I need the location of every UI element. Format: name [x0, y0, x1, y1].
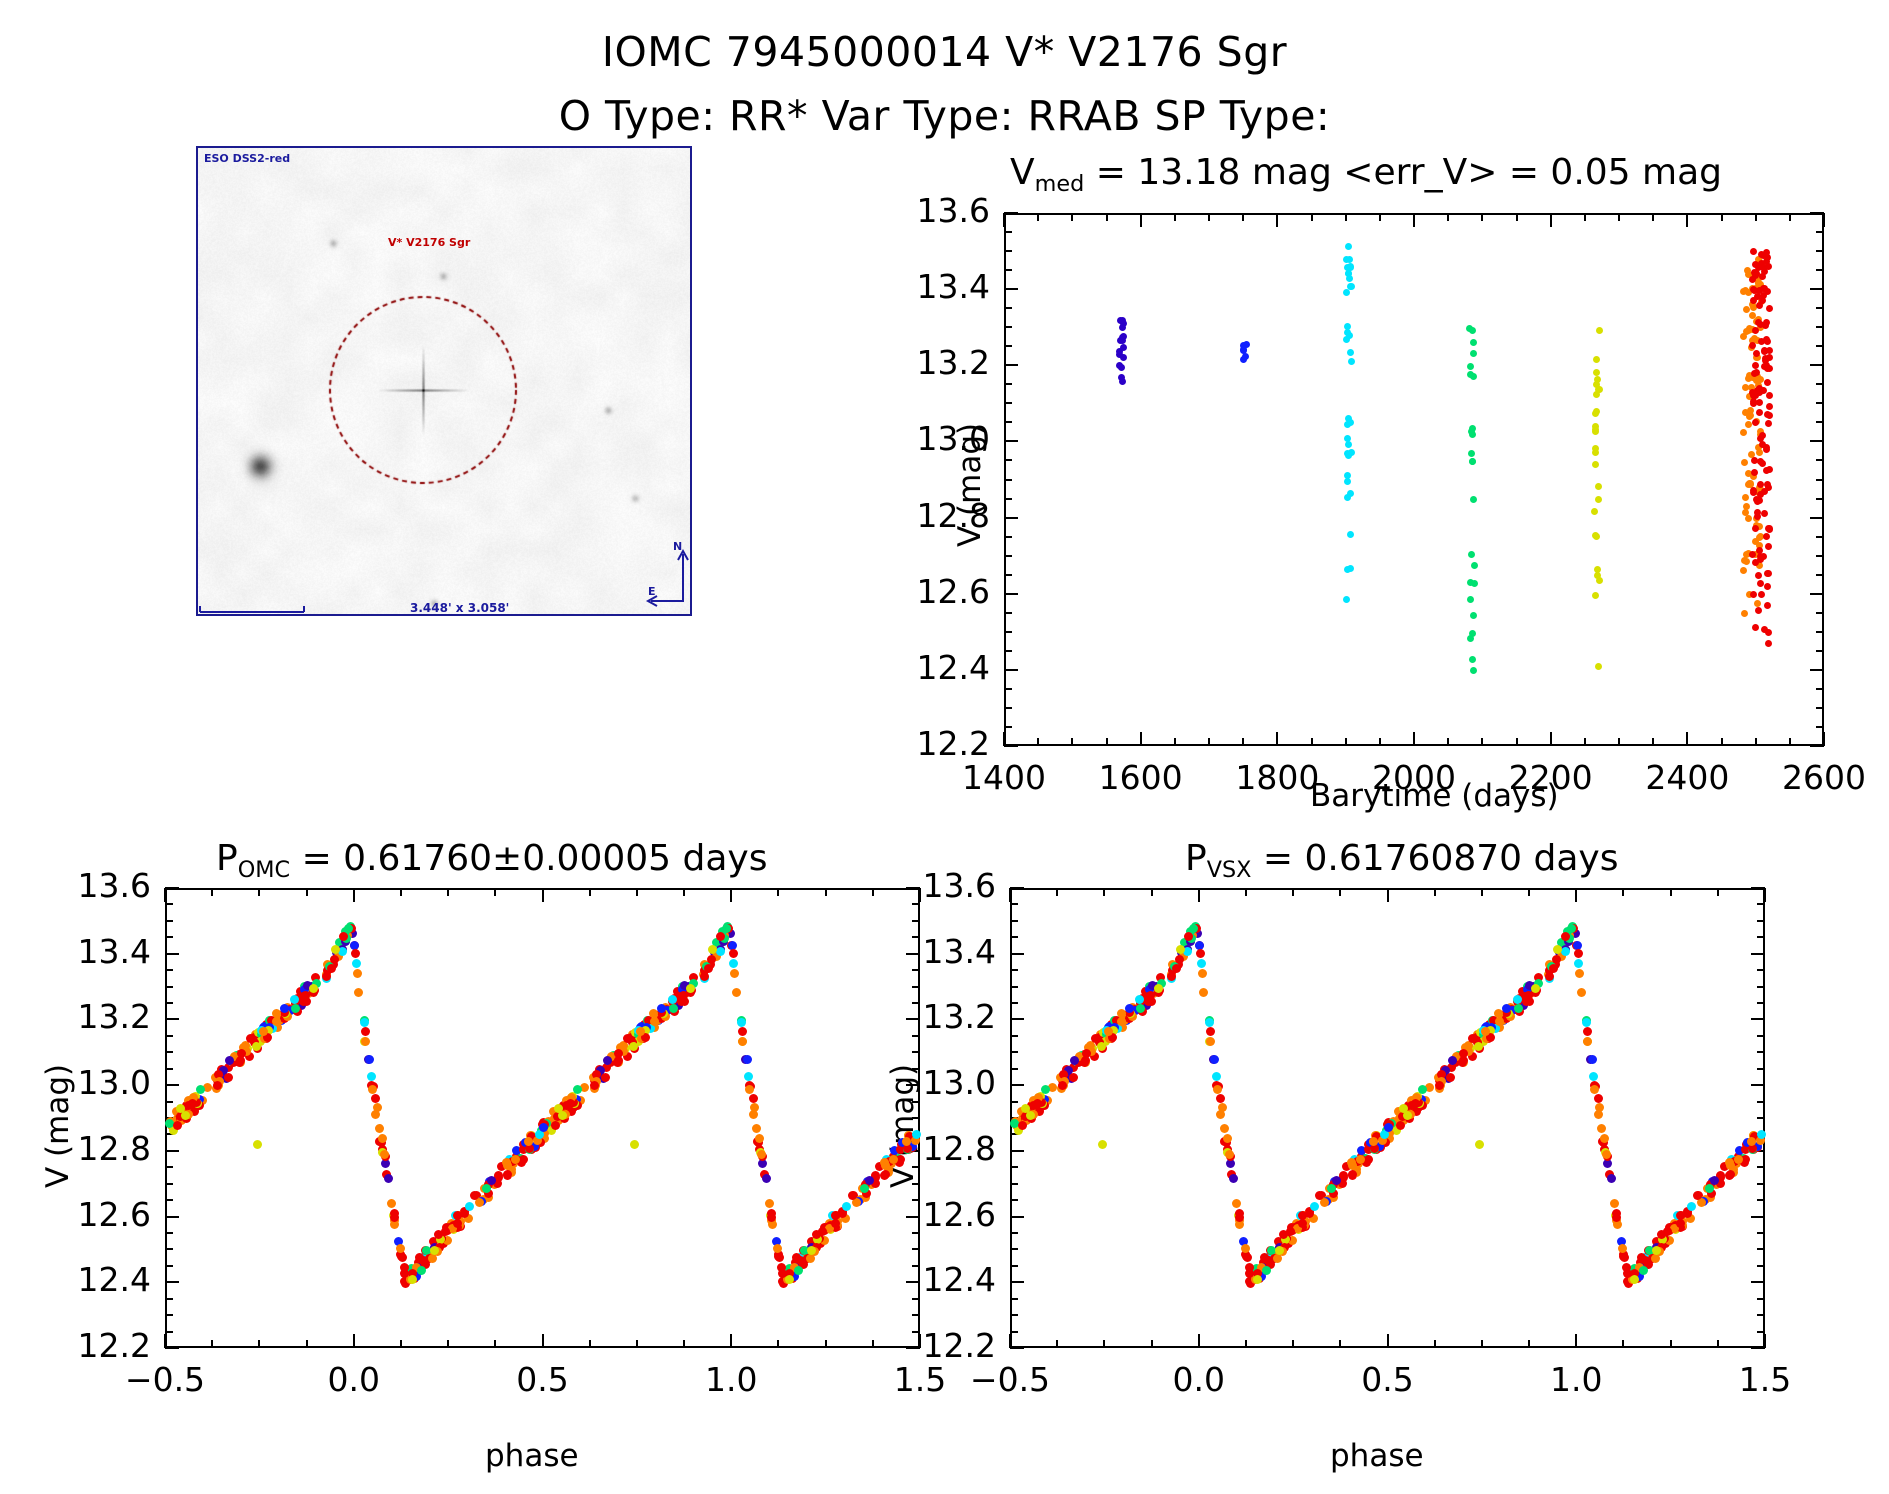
axis-tick — [1810, 669, 1824, 671]
axis-tick — [1345, 738, 1347, 746]
axis-tick — [1757, 920, 1765, 922]
axis-tick — [1757, 903, 1765, 905]
axis-tick — [1103, 1340, 1105, 1348]
axis-tick — [1757, 1331, 1765, 1333]
axis-tick — [1751, 953, 1765, 955]
data-point — [1344, 494, 1351, 501]
axis-tick — [1004, 745, 1018, 747]
data-point — [196, 1085, 205, 1094]
axis-tick — [1481, 738, 1483, 746]
axis-tick — [1717, 1340, 1719, 1348]
axis-tick — [1584, 213, 1586, 221]
axis-tick — [683, 1340, 685, 1348]
axis-tick — [1010, 1035, 1018, 1037]
axis-tick — [1757, 1002, 1765, 1004]
data-point — [1593, 369, 1600, 376]
data-point — [1117, 1009, 1126, 1018]
axis-tick — [1757, 1232, 1765, 1234]
axis-tick — [1816, 650, 1824, 652]
axis-tick — [1751, 1084, 1765, 1086]
data-point — [1197, 959, 1206, 968]
axis-tick — [1622, 888, 1624, 896]
axis-tick — [1003, 732, 1005, 746]
data-point — [1344, 472, 1351, 479]
axis-tick — [1010, 1101, 1018, 1103]
data-point — [1750, 591, 1757, 598]
axis-tick — [1345, 213, 1347, 221]
data-point — [1206, 1037, 1215, 1046]
axis-tick — [1751, 1216, 1765, 1218]
data-point — [1726, 1170, 1735, 1179]
axis-tick — [1516, 213, 1518, 221]
data-point — [224, 1073, 233, 1082]
data-point — [765, 1199, 774, 1208]
y-tick-label: 12.2 — [0, 1326, 151, 1365]
axis-tick — [165, 1281, 179, 1283]
axis-tick — [1757, 1183, 1765, 1185]
axis-tick — [400, 1340, 402, 1348]
axis-tick — [1434, 1340, 1436, 1348]
axis-tick — [542, 888, 544, 902]
axis-tick — [912, 1117, 920, 1119]
axis-tick — [1575, 888, 1577, 902]
data-point — [1346, 256, 1353, 263]
data-point — [1761, 626, 1768, 633]
data-point — [1470, 373, 1477, 380]
x-tick-label: 1.0 — [1496, 1360, 1656, 1399]
axis-tick — [1004, 631, 1012, 633]
data-point — [1592, 445, 1599, 452]
axis-tick — [1816, 479, 1824, 481]
data-point — [408, 1275, 417, 1284]
axis-tick — [1004, 364, 1018, 366]
axis-tick — [1810, 593, 1824, 595]
data-point — [1225, 1150, 1234, 1159]
axis-tick — [1276, 732, 1278, 746]
axis-tick — [1413, 732, 1415, 746]
data-point — [1474, 1042, 1483, 1051]
omc-subscript: OMC — [238, 857, 290, 883]
data-point — [1766, 392, 1773, 399]
axis-tick — [912, 1314, 920, 1316]
data-point — [1741, 610, 1748, 617]
data-point — [1745, 515, 1752, 522]
data-point — [259, 1027, 268, 1036]
data-point — [729, 959, 738, 968]
data-point — [252, 1042, 261, 1051]
y-tick-label: 13.0 — [0, 1063, 151, 1102]
axis-tick — [1151, 1340, 1153, 1348]
data-point — [291, 1004, 300, 1013]
finding-chart[interactable]: ESO DSS2-red V* V2176 Sgr 30" 3.448' x 3… — [196, 146, 692, 616]
data-point — [1411, 1099, 1420, 1108]
axis-tick — [1816, 536, 1824, 538]
axis-tick — [1004, 345, 1012, 347]
object-type-line: O Type: RR* Var Type: RRAB SP Type: — [0, 92, 1889, 140]
axis-tick — [165, 1068, 173, 1070]
axis-tick — [1379, 738, 1381, 746]
data-point — [1348, 283, 1355, 290]
data-point — [881, 1170, 890, 1179]
data-point — [1752, 392, 1759, 399]
data-point — [1468, 551, 1475, 558]
axis-tick — [1311, 738, 1313, 746]
axis-tick — [1755, 213, 1757, 221]
axis-tick — [1387, 888, 1389, 902]
compass-east-label: E — [648, 585, 656, 598]
axis-tick — [1010, 969, 1018, 971]
data-point — [380, 1150, 389, 1159]
axis-tick — [1010, 920, 1018, 922]
axis-tick — [1816, 459, 1824, 461]
axis-tick — [1757, 1051, 1765, 1053]
axis-tick — [1810, 745, 1824, 747]
data-point — [1495, 1017, 1504, 1026]
axis-tick — [1106, 213, 1108, 221]
axis-tick — [1550, 213, 1552, 227]
data-point — [441, 1227, 450, 1236]
axis-tick — [636, 888, 638, 896]
data-point — [1470, 496, 1477, 503]
data-point — [1741, 459, 1748, 466]
y-tick-label: 12.8 — [838, 1129, 996, 1168]
axis-tick — [165, 969, 173, 971]
data-point — [1574, 949, 1583, 958]
omc-panel-title: POMC = 0.61760±0.00005 days — [216, 838, 768, 883]
data-point — [1514, 1004, 1523, 1013]
data-point — [1752, 624, 1759, 631]
data-point — [1396, 1121, 1405, 1130]
data-point — [729, 949, 738, 958]
errv-value: 0.05 — [1550, 152, 1630, 193]
data-point — [1763, 249, 1770, 256]
axis-tick — [165, 1331, 173, 1333]
data-point — [1384, 1123, 1393, 1132]
field-size-label: 3.448' x 3.058' — [410, 601, 509, 615]
axis-tick — [1004, 440, 1018, 442]
axis-tick — [912, 1183, 920, 1185]
axis-tick — [1816, 421, 1824, 423]
axis-tick — [1004, 536, 1012, 538]
axis-tick — [1481, 1340, 1483, 1348]
axis-tick — [1010, 1002, 1018, 1004]
axis-tick — [165, 1265, 173, 1267]
data-point — [1588, 1055, 1597, 1064]
axis-tick — [1010, 1281, 1024, 1283]
data-point — [669, 1004, 678, 1013]
axis-tick — [1140, 732, 1142, 746]
y-tick-label: 12.4 — [838, 1260, 996, 1299]
axis-tick — [1004, 669, 1018, 671]
data-point — [1399, 1104, 1408, 1113]
axis-tick — [1751, 1281, 1765, 1283]
axis-tick — [165, 903, 173, 905]
axis-tick — [1010, 1051, 1018, 1053]
axis-tick — [1816, 345, 1824, 347]
data-point — [1710, 1176, 1719, 1185]
data-point — [1752, 327, 1759, 334]
axis-tick — [1010, 1183, 1018, 1185]
data-point — [1205, 1018, 1214, 1027]
data-point — [650, 1017, 659, 1026]
data-point — [1545, 972, 1554, 981]
x-tick-label: 0.0 — [274, 1360, 434, 1399]
vsx-subscript: VSX — [1207, 857, 1252, 883]
axis-tick — [165, 1150, 179, 1152]
axis-tick — [165, 953, 179, 955]
axis-tick — [165, 1232, 173, 1234]
vmed-eq: = — [1084, 152, 1137, 193]
y-tick-label: 12.2 — [832, 724, 990, 763]
axis-tick — [1584, 738, 1586, 746]
data-point — [1602, 1150, 1611, 1159]
data-point — [1198, 969, 1207, 978]
axis-tick — [1789, 738, 1791, 746]
data-point — [390, 1209, 399, 1218]
axis-tick — [165, 1248, 173, 1250]
axis-tick — [1816, 574, 1824, 576]
vmed-unit: mag — [1252, 152, 1332, 193]
axis-tick — [165, 1347, 179, 1349]
data-point — [1223, 1134, 1232, 1143]
axis-tick — [1037, 213, 1039, 221]
data-point — [213, 1081, 222, 1090]
y-tick-label: 13.6 — [0, 866, 151, 905]
data-point — [1561, 947, 1570, 956]
axis-tick — [1010, 1084, 1024, 1086]
data-point — [1041, 1085, 1050, 1094]
axis-tick — [1003, 213, 1005, 227]
data-point — [668, 995, 677, 1004]
axis-tick — [1208, 738, 1210, 746]
x-tick-label: −0.5 — [85, 1360, 245, 1399]
axis-tick — [1516, 738, 1518, 746]
data-point — [743, 1055, 752, 1064]
axis-tick — [1757, 1248, 1765, 1250]
data-point-outlier — [1098, 1140, 1107, 1149]
axis-tick — [1010, 1314, 1018, 1316]
data-point — [1220, 1124, 1229, 1133]
axis-tick — [1292, 888, 1294, 896]
lightcurve-plot-area[interactable] — [1004, 213, 1824, 746]
axis-tick — [211, 888, 213, 896]
errv-label: <err_V> = — [1343, 152, 1550, 193]
data-point — [1693, 1191, 1702, 1200]
axis-tick — [1010, 1298, 1018, 1300]
axis-tick — [589, 1340, 591, 1348]
axis-tick — [1010, 936, 1018, 938]
axis-tick — [1245, 1340, 1247, 1348]
data-point — [1154, 984, 1163, 993]
data-point — [679, 991, 688, 1000]
axis-tick — [306, 888, 308, 896]
survey-label: ESO DSS2-red — [204, 152, 290, 165]
data-point — [272, 1009, 281, 1018]
axis-tick — [165, 1199, 173, 1201]
data-point — [1240, 356, 1247, 363]
axis-tick — [1004, 574, 1012, 576]
axis-tick — [1751, 887, 1765, 889]
y-tick-label: 13.2 — [832, 343, 990, 382]
y-tick-label: 12.8 — [0, 1129, 151, 1168]
axis-tick — [542, 1334, 544, 1348]
data-point — [1348, 449, 1355, 456]
data-point — [1120, 344, 1127, 351]
omc-xlabel: phase — [485, 1438, 579, 1474]
axis-tick — [912, 1248, 920, 1250]
axis-tick — [1010, 1199, 1018, 1201]
data-point — [1448, 1056, 1457, 1065]
data-point — [1213, 1085, 1222, 1094]
data-point — [1759, 441, 1766, 448]
data-point — [502, 1158, 511, 1167]
data-point — [1753, 350, 1760, 357]
axis-tick — [1004, 307, 1012, 309]
axis-tick — [1056, 888, 1058, 896]
data-point — [573, 1085, 582, 1094]
data-point — [1676, 1219, 1685, 1228]
data-point — [1212, 1072, 1221, 1081]
data-point — [1468, 450, 1475, 457]
data-point — [1618, 1244, 1627, 1253]
data-point — [1467, 579, 1474, 586]
axis-tick — [1010, 953, 1024, 955]
data-point — [176, 1104, 185, 1113]
axis-tick — [1174, 213, 1176, 221]
data-point — [430, 1246, 439, 1255]
axis-tick — [1413, 213, 1415, 227]
axis-tick — [1010, 1248, 1018, 1250]
data-point — [352, 959, 361, 968]
y-tick-label: 12.4 — [0, 1260, 151, 1299]
axis-tick — [912, 1051, 920, 1053]
data-point — [865, 1176, 874, 1185]
data-point — [1343, 289, 1350, 296]
vmed-value: 13.18 — [1137, 152, 1240, 193]
axis-tick — [165, 936, 173, 938]
axis-tick — [1810, 517, 1824, 519]
data-point — [1705, 1184, 1714, 1193]
data-point — [539, 1123, 548, 1132]
axis-tick — [1810, 440, 1824, 442]
axis-tick — [1757, 969, 1765, 971]
axis-tick — [258, 1340, 260, 1348]
data-point — [794, 1266, 803, 1275]
axis-tick — [1009, 1334, 1011, 1348]
axis-tick — [1528, 888, 1530, 896]
data-point — [1176, 945, 1185, 954]
data-point — [601, 1073, 610, 1082]
axis-tick — [1242, 738, 1244, 746]
data-point — [353, 969, 362, 978]
axis-tick — [1789, 213, 1791, 221]
axis-tick — [1816, 498, 1824, 500]
data-point — [1734, 1155, 1743, 1164]
data-point — [1764, 602, 1771, 609]
data-point — [1575, 969, 1584, 978]
axis-tick — [730, 1334, 732, 1348]
axis-tick — [777, 888, 779, 896]
data-point — [1104, 1027, 1113, 1036]
axis-tick — [1757, 986, 1765, 988]
axis-tick — [1764, 1334, 1766, 1348]
vmed-subscript: med — [1035, 171, 1085, 197]
data-point — [1751, 335, 1758, 342]
data-point — [1759, 297, 1766, 304]
data-point — [1260, 1253, 1269, 1262]
axis-tick — [1311, 213, 1313, 221]
axis-tick — [1004, 726, 1012, 728]
axis-tick — [1757, 1166, 1765, 1168]
y-tick-label: 13.0 — [838, 1063, 996, 1102]
axis-tick — [1757, 1035, 1765, 1037]
axis-tick — [1757, 1314, 1765, 1316]
data-point — [280, 1004, 289, 1013]
data-point — [1596, 327, 1603, 334]
axis-tick — [1550, 732, 1552, 746]
axis-tick — [1755, 738, 1757, 746]
axis-tick — [1010, 1232, 1018, 1234]
data-point — [1594, 376, 1601, 383]
axis-tick — [1004, 650, 1012, 652]
data-point — [1590, 1085, 1599, 1094]
axis-tick — [1276, 213, 1278, 227]
axis-tick — [1717, 888, 1719, 896]
data-point — [1592, 423, 1599, 430]
axis-tick — [589, 888, 591, 896]
data-point — [1610, 1199, 1619, 1208]
axis-tick — [1387, 1334, 1389, 1348]
data-point — [1347, 1158, 1356, 1167]
axis-tick — [1010, 1166, 1018, 1168]
axis-tick — [1140, 213, 1142, 227]
errv-unit: mag — [1642, 152, 1722, 193]
data-point — [1446, 1073, 1455, 1082]
axis-tick — [1071, 738, 1073, 746]
axis-tick — [1434, 888, 1436, 896]
axis-tick — [1004, 402, 1012, 404]
iomc-figure: IOMC 7945000014 V* V2176 Sgr O Type: RR*… — [0, 0, 1889, 1494]
data-point — [700, 972, 709, 981]
data-point — [1595, 663, 1602, 670]
data-point — [1745, 421, 1752, 428]
data-point — [1345, 243, 1352, 250]
axis-tick — [165, 920, 173, 922]
axis-tick — [1686, 213, 1688, 227]
data-point — [1764, 570, 1771, 577]
axis-tick — [165, 1183, 173, 1185]
axis-tick — [1816, 326, 1824, 328]
data-point — [1469, 630, 1476, 637]
page-title: IOMC 7945000014 V* V2176 Sgr — [0, 28, 1889, 76]
axis-tick — [447, 1340, 449, 1348]
data-point — [1466, 325, 1473, 332]
y-tick-label: 13.4 — [832, 267, 990, 306]
axis-tick — [1010, 986, 1018, 988]
axis-tick — [1106, 738, 1108, 746]
axis-tick — [1004, 383, 1012, 385]
data-point — [415, 1253, 424, 1262]
axis-tick — [1652, 213, 1654, 221]
data-point — [603, 1056, 612, 1065]
axis-tick — [683, 888, 685, 896]
data-point — [1593, 533, 1600, 540]
y-tick-label: 12.4 — [832, 648, 990, 687]
axis-tick — [1245, 888, 1247, 896]
data-point — [716, 947, 725, 956]
axis-tick — [1004, 593, 1018, 595]
y-tick-label: 12.6 — [832, 572, 990, 611]
